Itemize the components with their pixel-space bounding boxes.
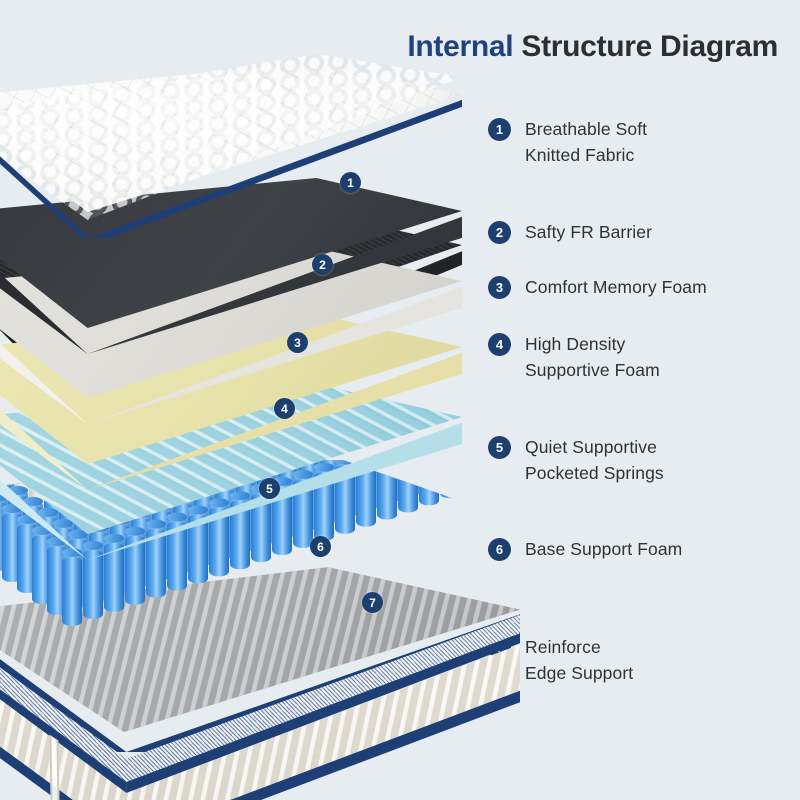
legend-label-6: Base Support Foam (525, 537, 682, 563)
page-title-rest: Structure Diagram (521, 30, 778, 63)
pocketed-spring (62, 552, 82, 626)
legend-label-3: Comfort Memory Foam (525, 275, 707, 301)
diagram-callout-3[interactable]: 3 (287, 332, 308, 353)
legend-label-5: Quiet Supportive Pocketed Springs (525, 435, 664, 486)
diagram-callout-6[interactable]: 6 (310, 536, 331, 557)
exploded-mattress-illustration (0, 62, 502, 800)
pocketed-spring (410, 460, 430, 476)
mattress-handle (49, 735, 59, 800)
internal-structure-diagram-canvas: Internal Structure Diagram (0, 0, 800, 800)
pocketed-spring (440, 460, 460, 498)
legend-item-comfort-memory-foam[interactable]: 3 Comfort Memory Foam (488, 276, 707, 301)
legend-badge-2: 2 (488, 221, 511, 244)
diagram-callout-2[interactable]: 2 (312, 254, 333, 275)
legend-item-safty-fr-barrier[interactable]: 2 Safty FR Barrier (488, 221, 652, 246)
legend-label-4: High Density Supportive Foam (525, 332, 660, 383)
legend-label-2: Safty FR Barrier (525, 220, 652, 246)
legend-item-base-support-foam[interactable]: 6 Base Support Foam (488, 538, 682, 563)
legend-badge-3: 3 (488, 276, 511, 299)
legend-badge-4: 4 (488, 333, 511, 356)
page-title-highlight: Internal (407, 30, 521, 63)
diagram-callout-1[interactable]: 1 (340, 172, 361, 193)
legend-badge-6: 6 (488, 538, 511, 561)
legend-label-1: Breathable Soft Knitted Fabric (525, 117, 647, 168)
pocketed-spring (461, 460, 462, 491)
legend-badge-5: 5 (488, 436, 511, 459)
diagram-callout-4[interactable]: 4 (274, 398, 295, 419)
diagram-callout-5[interactable]: 5 (259, 478, 280, 499)
legend-badge-1: 1 (488, 118, 511, 141)
pocketed-spring (431, 460, 451, 469)
diagram-callout-7[interactable]: 7 (362, 592, 383, 613)
pocketed-spring (425, 460, 445, 487)
pocketed-spring (398, 460, 418, 512)
legend-item-high-density-supportive-foam[interactable]: 4 High Density Supportive Foam (488, 333, 660, 383)
legend-item-quiet-supportive-pocketed-springs[interactable]: 5 Quiet Supportive Pocketed Springs (488, 436, 664, 486)
page-title: Internal Structure Diagram (407, 30, 778, 64)
pocketed-spring (452, 460, 462, 462)
pocketed-spring (446, 460, 462, 480)
legend-item-breathable-soft-knitted-fabric[interactable]: 1 Breathable Soft Knitted Fabric (488, 118, 647, 168)
legend-label-7: Reinforce Edge Support (525, 635, 633, 686)
pocketed-spring (419, 460, 439, 505)
